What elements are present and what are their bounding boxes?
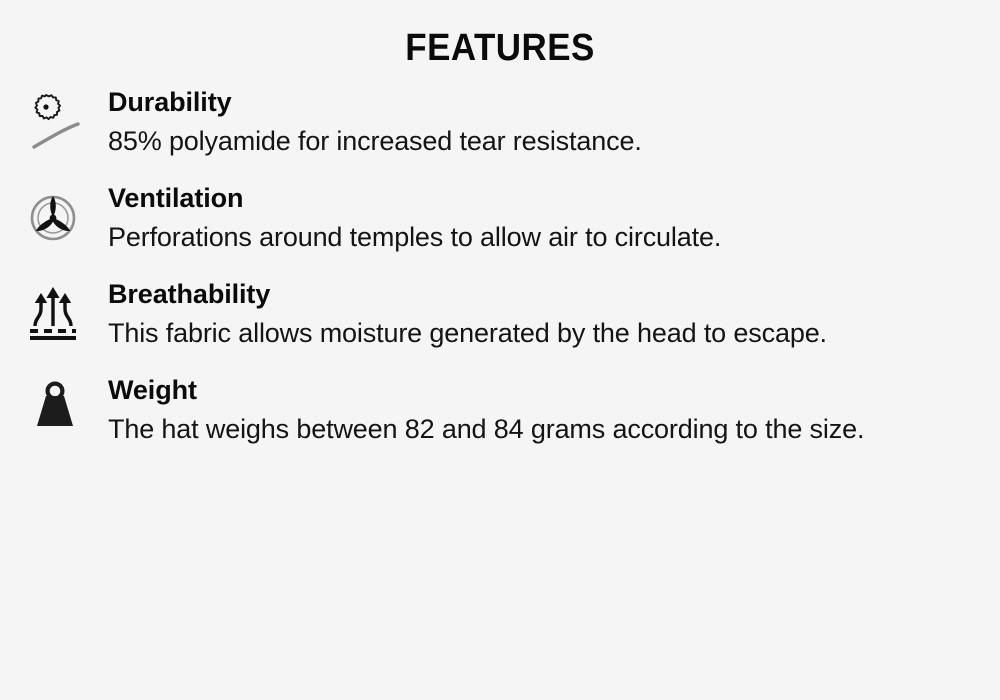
feature-description: Perforations around temples to allow air… <box>108 217 948 258</box>
list-item: Durability 85% polyamide for increased t… <box>0 86 1000 162</box>
feature-list: Durability 85% polyamide for increased t… <box>0 86 1000 450</box>
list-item: Ventilation Perforations around temples … <box>0 182 1000 258</box>
feature-icon-cell <box>0 182 108 248</box>
moisture-arrows-up-icon <box>22 284 84 344</box>
fan-propeller-icon <box>24 188 84 248</box>
list-item: Weight The hat weighs between 82 and 84 … <box>0 374 1000 450</box>
feature-text-cell: Ventilation Perforations around temples … <box>108 182 1000 258</box>
feature-heading: Ventilation <box>108 182 960 215</box>
feature-text-cell: Durability 85% polyamide for increased t… <box>108 86 1000 162</box>
feature-heading: Breathability <box>108 278 960 311</box>
feature-text-cell: Breathability This fabric allows moistur… <box>108 278 1000 354</box>
feature-icon-cell <box>0 374 108 436</box>
feature-description: The hat weighs between 82 and 84 grams a… <box>108 409 948 450</box>
feature-text-cell: Weight The hat weighs between 82 and 84 … <box>108 374 1000 450</box>
list-item: Breathability This fabric allows moistur… <box>0 278 1000 354</box>
feature-icon-cell <box>0 278 108 344</box>
page-title: FEATURES <box>40 26 960 70</box>
feature-description: This fabric allows moisture generated by… <box>108 313 948 354</box>
feature-description: 85% polyamide for increased tear resista… <box>108 121 948 162</box>
features-section: FEATURES Durability 85% polyamide for i <box>0 0 1000 700</box>
abrasion-sawblade-icon <box>26 92 86 152</box>
weight-kettlebell-icon <box>26 380 84 436</box>
feature-icon-cell <box>0 86 108 152</box>
feature-heading: Durability <box>108 86 960 119</box>
feature-heading: Weight <box>108 374 960 407</box>
